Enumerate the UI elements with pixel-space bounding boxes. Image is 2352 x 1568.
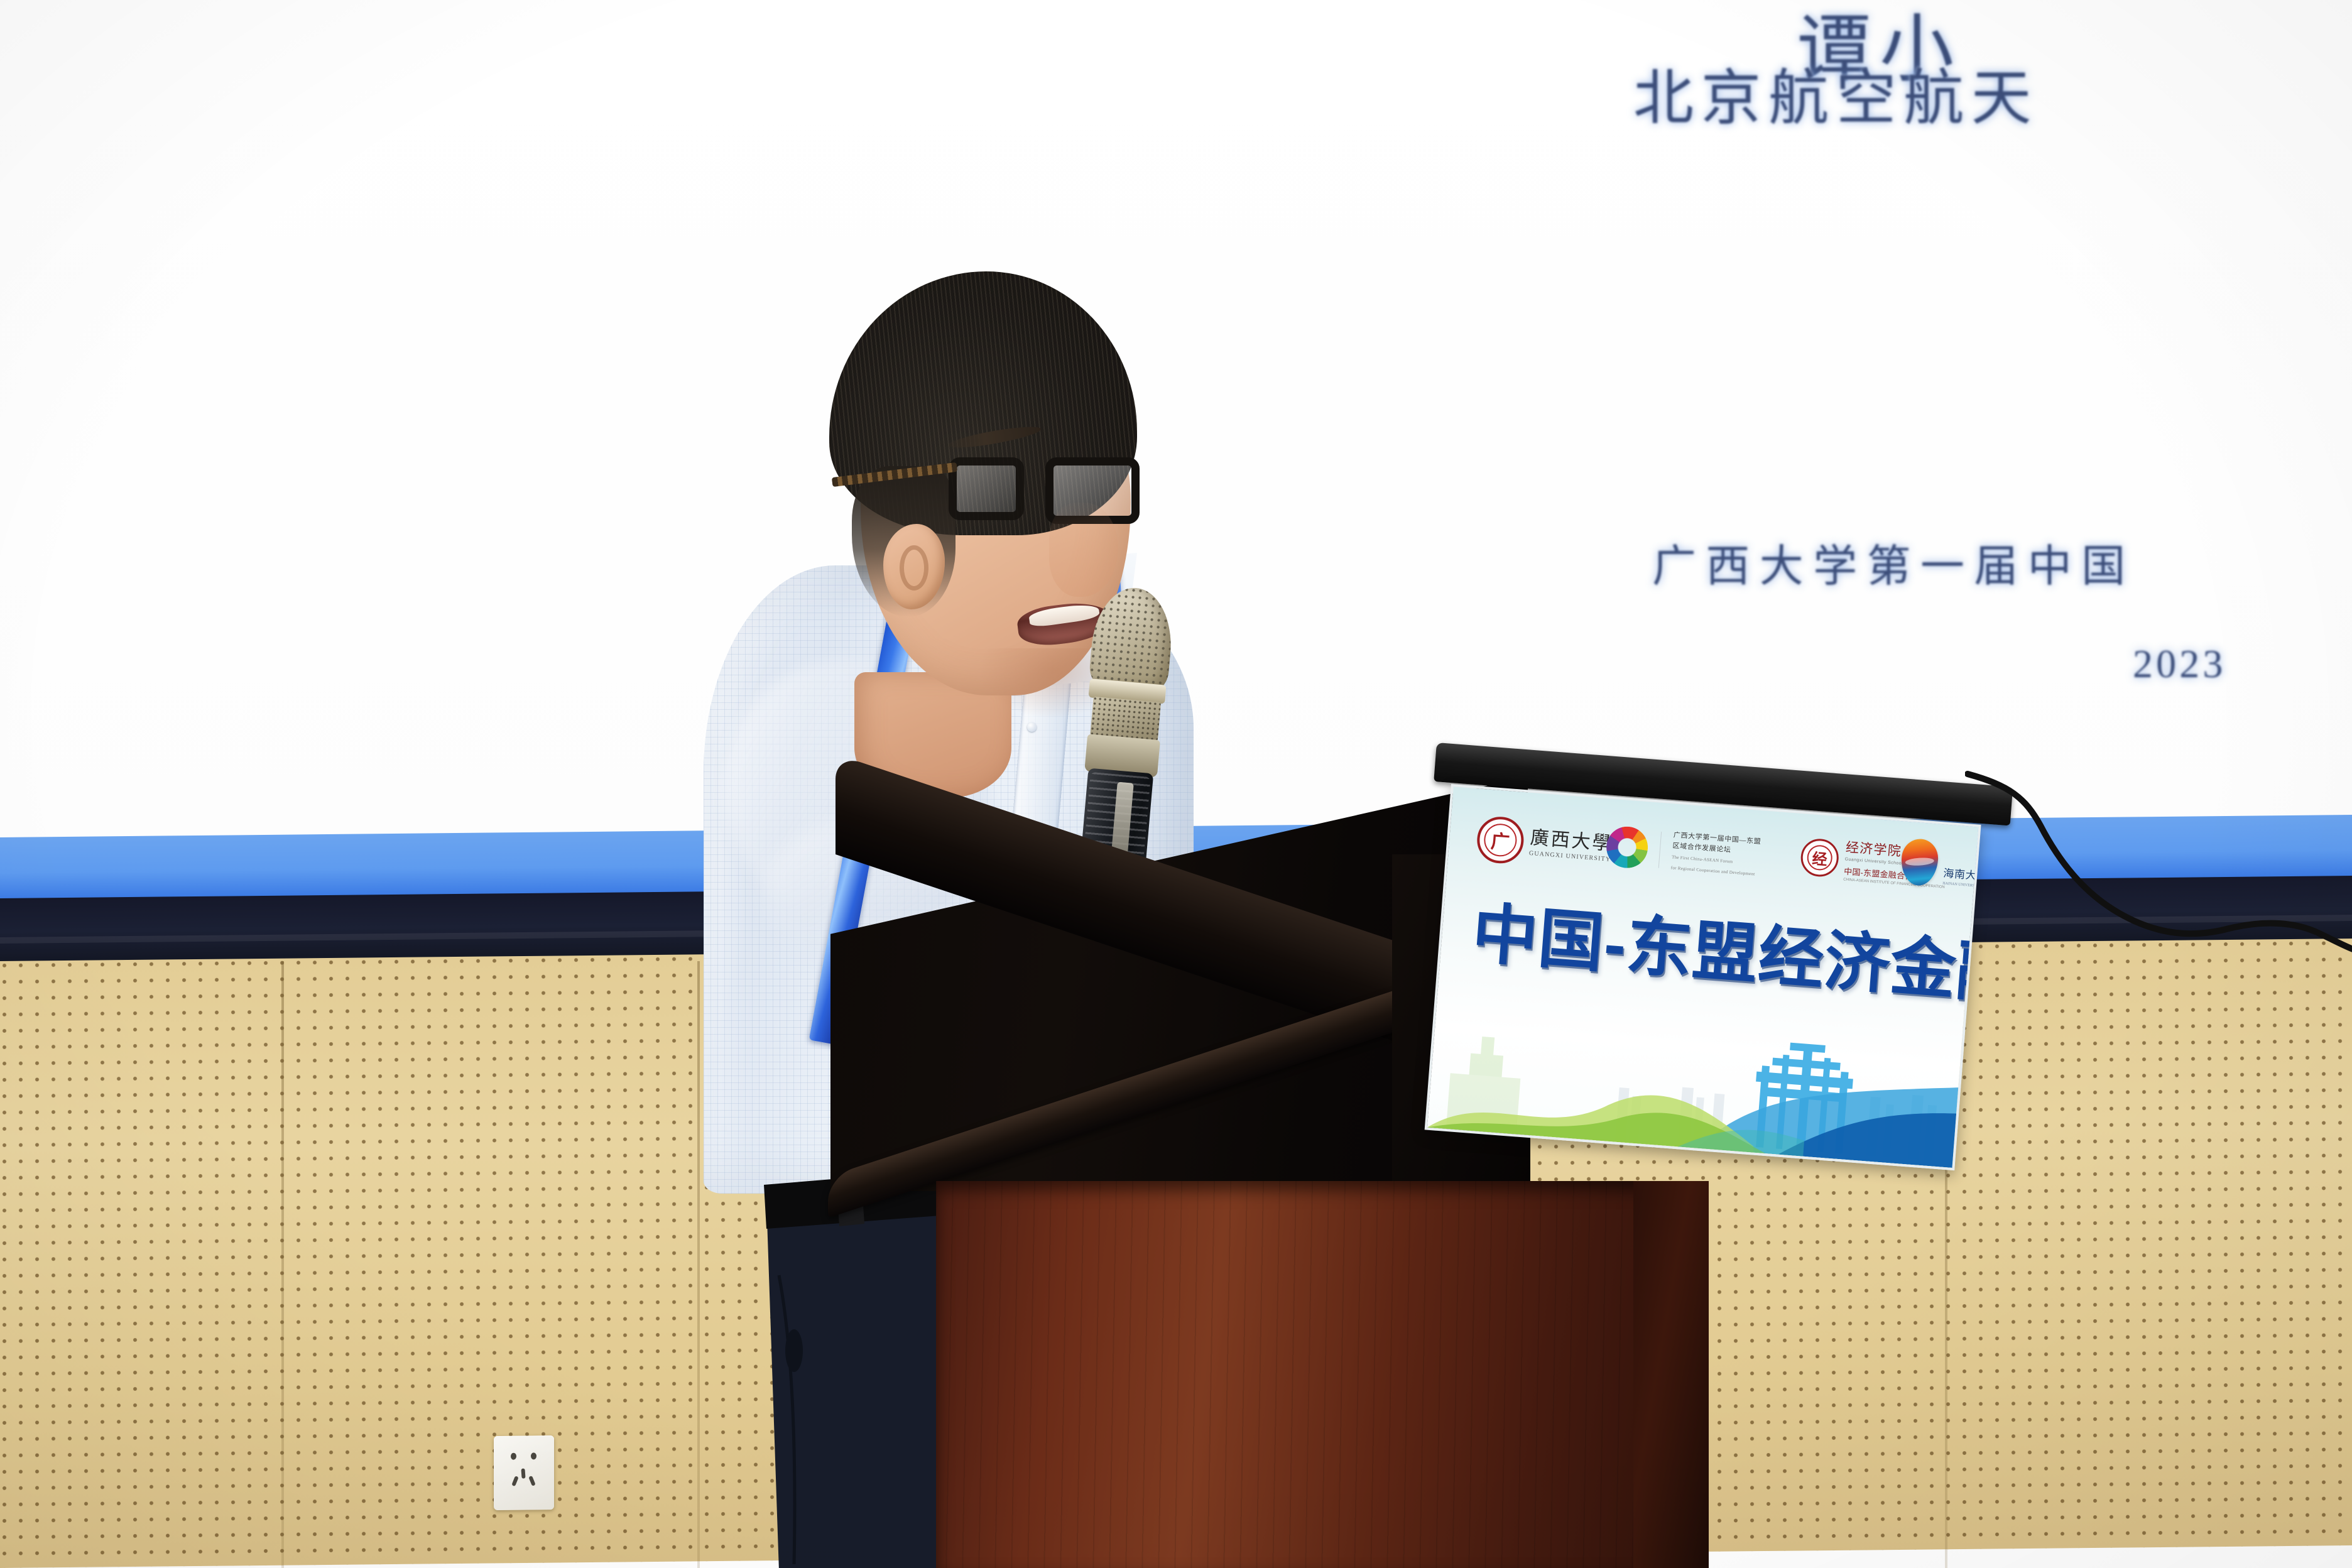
logo-guangxi-university: 广 廣西大學 GUANGXI UNIVERSITY (1476, 815, 1614, 872)
wall-panel-seam (281, 961, 284, 1568)
logo-forum-emblem: 广西大学第一届中国—东盟 区域合作发展论坛 The First China-AS… (1605, 825, 1761, 878)
shirt-button (1027, 722, 1037, 732)
logo-hainan-university: 海南大学 HAINAN UNIVERSITY (1900, 837, 1981, 890)
slide-date-line: 2023 (2133, 641, 2226, 687)
eyeglasses-icon (937, 449, 1151, 530)
podium-banner: 广 廣西大學 GUANGXI UNIVERSITY 广西大学第一届中国—东盟 (1424, 784, 1996, 1189)
trouser-pocket (785, 1329, 803, 1372)
flower-core (1620, 840, 1635, 855)
outlet-pin (531, 1452, 536, 1459)
seal-glyph: 广 (1490, 825, 1511, 854)
power-outlet (494, 1435, 554, 1510)
outlet-pin (521, 1468, 525, 1478)
podium-wood-edge (1633, 1181, 1709, 1568)
eyeglass-lens-left (949, 457, 1024, 520)
slide-event-line: 广西大学第一届中国 (1652, 531, 2135, 594)
forum-flower-icon (1605, 825, 1650, 869)
slide-speaker-affiliation: 北京航空航天 (1633, 49, 2039, 136)
banner-title: 中国-东盟经济金融合作论坛 (1470, 900, 1951, 1003)
logo-name-cn: 廣西大學 (1530, 828, 1614, 854)
outlet-pin (511, 1453, 516, 1460)
outlet-pin (528, 1476, 536, 1486)
banner-board: 广 廣西大學 GUANGXI UNIVERSITY 广西大学第一届中国—东盟 (1425, 784, 1981, 1170)
outlet-pin (511, 1476, 519, 1486)
hainan-name-cn: 海南大学 (1943, 864, 1981, 883)
banner-wave-graphic (1427, 993, 1963, 1168)
seal-glyph: 经 (1811, 846, 1828, 869)
conference-photo-scene: 谭小 北京航空航天 广西大学第一届中国 2023 (0, 0, 2352, 1568)
microphone-grille (1088, 585, 1175, 692)
hainan-name-en: HAINAN UNIVERSITY (1942, 881, 1981, 888)
hainan-badge-icon (1900, 837, 1940, 886)
logo-divider (1658, 832, 1662, 868)
podium-wood-body (936, 1181, 1658, 1568)
economics-seal-icon: 经 (1800, 837, 1840, 878)
university-seal-icon: 广 (1476, 815, 1525, 865)
